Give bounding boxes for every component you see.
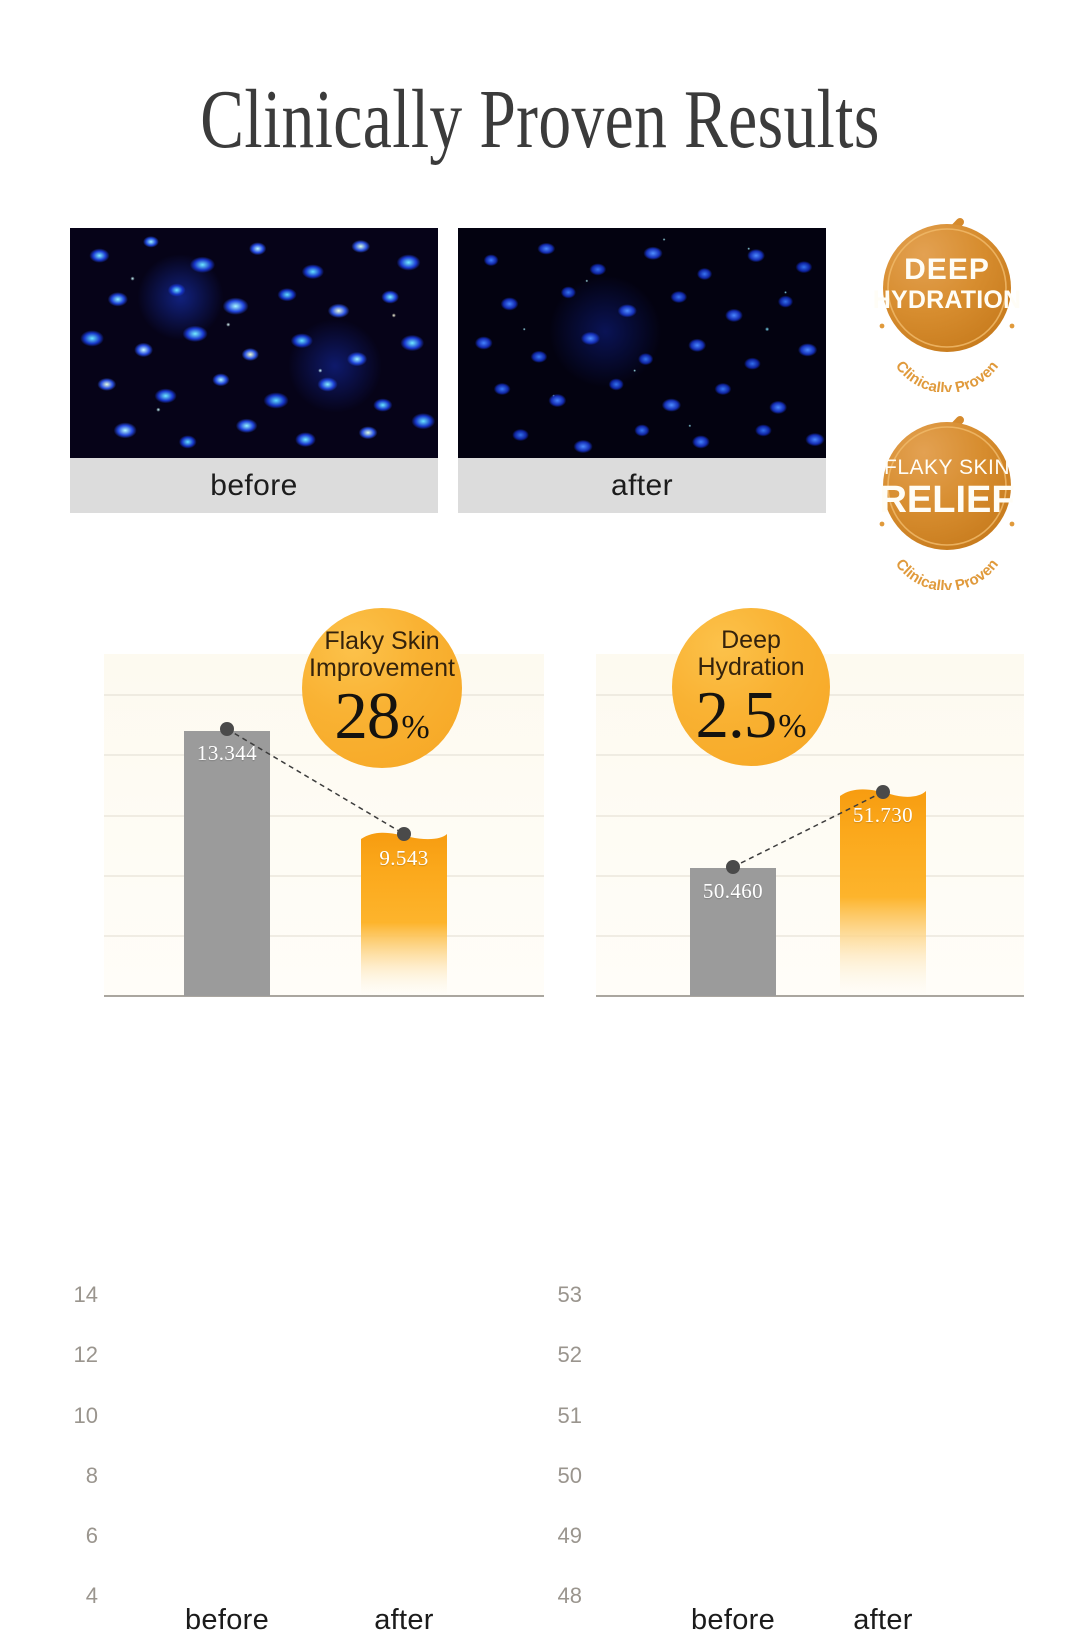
marker-before	[220, 722, 234, 736]
seal2-line1: FLAKY SKIN	[884, 456, 1010, 479]
category-label-before: before	[673, 1604, 793, 1637]
seal2-line2: RELIEF	[879, 479, 1014, 521]
badge-line-1: Deep	[721, 627, 781, 654]
bar-value-after: 9.543	[361, 846, 447, 871]
bar-value-before: 13.344	[184, 741, 270, 766]
micrograph-before	[70, 228, 438, 458]
y-tick-3: 8	[58, 1463, 98, 1489]
bar-value-after: 51.730	[840, 803, 926, 828]
badge-line-1: Flaky Skin	[324, 628, 439, 655]
page-title: Clinically Proven Results	[119, 78, 961, 162]
micrograph-after-field	[458, 228, 826, 458]
marker-before	[726, 860, 740, 874]
bar-value-before: 50.460	[690, 879, 776, 904]
comparison-panel-before: before	[70, 228, 438, 513]
seal1-line1: DEEP	[904, 253, 990, 286]
badge-flaky-skin-improvement: Flaky Skin Improvement 28 %	[302, 608, 462, 768]
caption-after: after	[458, 458, 826, 513]
badge-percent: 2.5 %	[695, 685, 806, 747]
micrograph-after	[458, 228, 826, 458]
y-tick-2: 10	[58, 1403, 98, 1429]
seal1-dot-right	[1010, 324, 1015, 329]
seal2-arc-label: Clinically Proven	[892, 556, 1002, 590]
y-tick-5: 4	[58, 1583, 98, 1609]
seal1-arc-label: Clinically Proven	[892, 358, 1002, 392]
badge-percent-symbol: %	[401, 712, 429, 743]
seal2-dot-right	[1010, 522, 1015, 527]
seal1-arc-text: Clinically Proven	[892, 358, 1002, 392]
marker-after	[876, 785, 890, 799]
seal2-dot-left	[880, 522, 885, 527]
comparison-panel-after: after	[458, 228, 826, 513]
badge-percent-symbol: %	[778, 711, 806, 742]
category-label-after: after	[344, 1604, 464, 1637]
seal-deep-hydration-graphic: DEEP HYDRATION Clinically Proven	[868, 202, 1026, 392]
caption-before: before	[70, 458, 438, 513]
y-tick-4: 6	[58, 1523, 98, 1549]
category-label-after: after	[823, 1604, 943, 1637]
bar-before	[184, 731, 270, 996]
seal1-dot-left	[880, 324, 885, 329]
badge-percent-value: 28	[334, 686, 399, 748]
y-tick-1: 12	[58, 1342, 98, 1368]
y-tick-2: 51	[542, 1403, 582, 1429]
badge-percent: 28 %	[334, 686, 429, 748]
y-tick-4: 49	[542, 1523, 582, 1549]
seal-flaky-skin-relief: FLAKY SKIN RELIEF Clinically Proven	[868, 400, 1026, 590]
y-tick-1: 52	[542, 1342, 582, 1368]
badge-line-2: Improvement	[309, 655, 455, 682]
y-tick-0: 53	[542, 1282, 582, 1308]
marker-after	[397, 827, 411, 841]
seal1-line2: HYDRATION	[873, 286, 1022, 314]
seal-flaky-skin-relief-graphic: FLAKY SKIN RELIEF Clinically Proven	[868, 400, 1026, 590]
badge-deep-hydration: Deep Hydration 2.5 %	[672, 608, 830, 766]
seal-deep-hydration: DEEP HYDRATION Clinically Proven	[868, 202, 1026, 392]
badge-percent-value: 2.5	[695, 685, 776, 747]
micrograph-before-field	[70, 228, 438, 458]
badge-line-2: Hydration	[698, 654, 805, 681]
seal2-arc-text: Clinically Proven	[892, 556, 1002, 590]
category-label-before: before	[167, 1604, 287, 1637]
y-tick-3: 50	[542, 1463, 582, 1489]
infographic-canvas: Clinically Proven Results before after	[0, 0, 1080, 1080]
y-tick-0: 14	[58, 1282, 98, 1308]
y-tick-5: 48	[542, 1583, 582, 1609]
